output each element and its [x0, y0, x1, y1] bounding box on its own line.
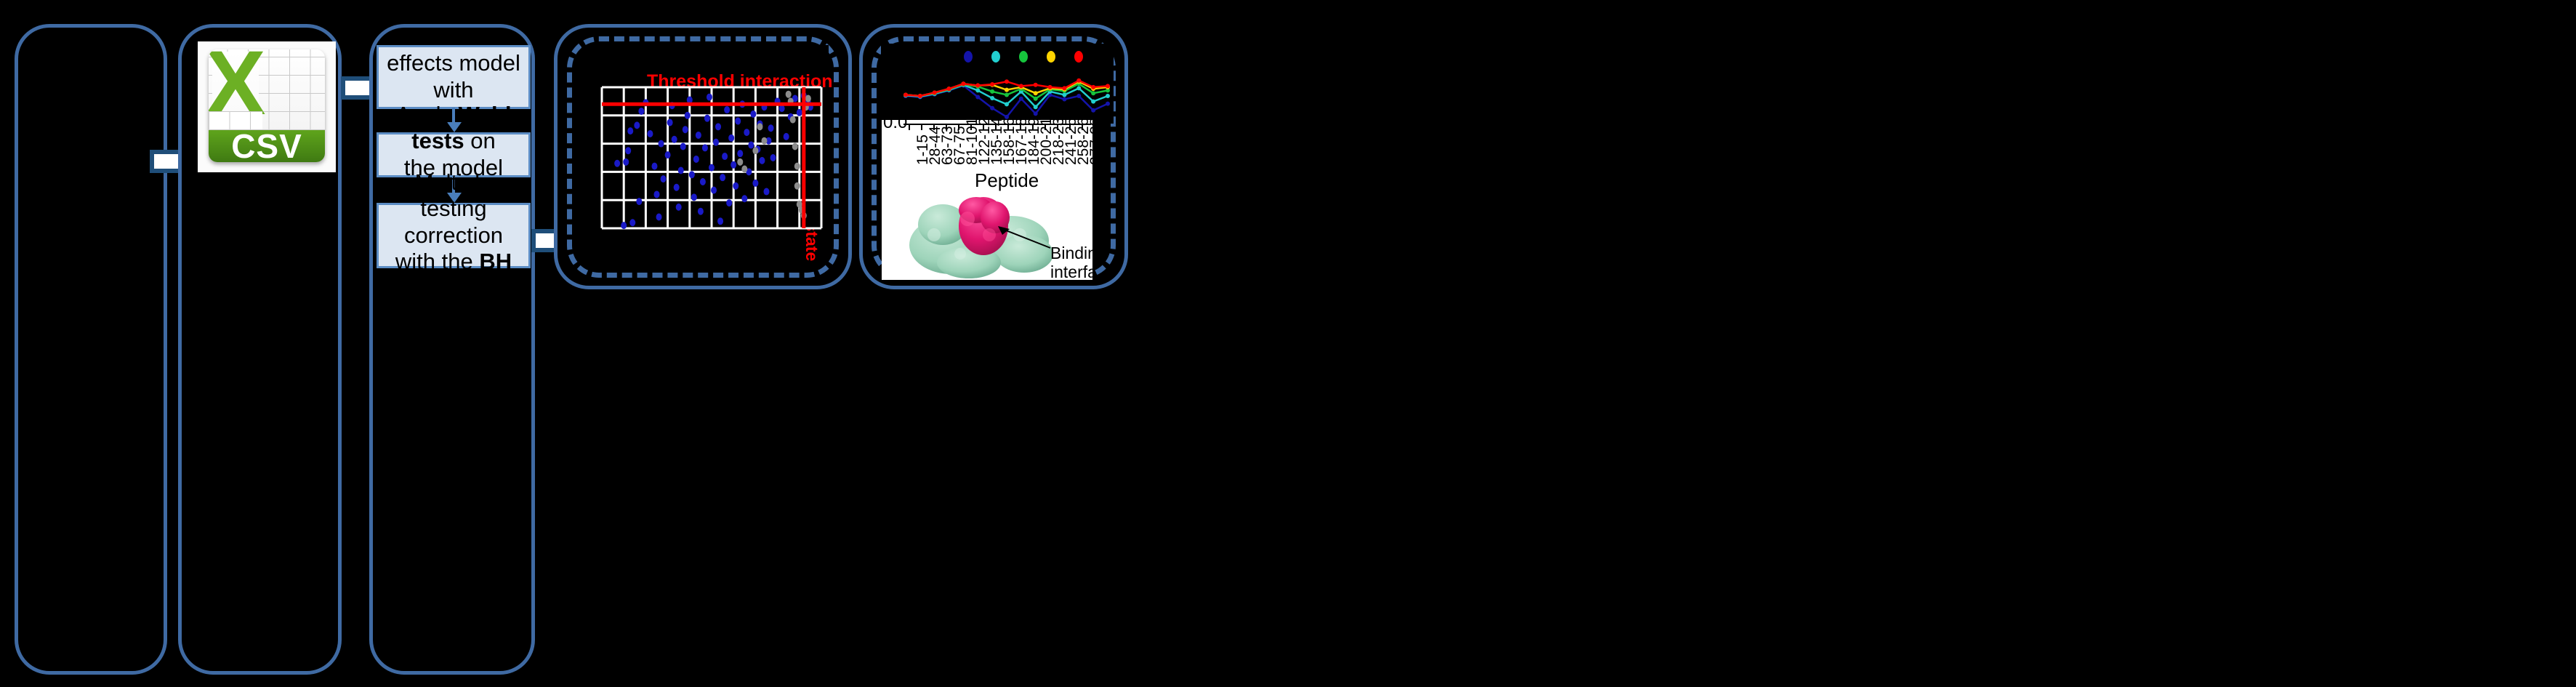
scatter-plot-canvas: [581, 45, 829, 263]
threshold-scatter-figure: Threshold interaction Threshold state: [581, 45, 829, 263]
peptide-line-chart-canvas: [881, 44, 1114, 124]
binding-interface-annotation: Binding interface: [1050, 244, 1092, 280]
x-axis-label: Peptide: [975, 169, 1039, 192]
csv-icon-tile: X CSV: [209, 49, 325, 162]
csv-format-label: CSV: [209, 130, 325, 161]
step-multiple-testing-box[interactable]: Multiple testing correction with the BH …: [377, 203, 531, 268]
peptide-lineplot: [881, 44, 1114, 124]
step-multiple-testing-text: Multiple testing correction with the BH …: [383, 169, 524, 302]
csv-file-icon: X CSV: [198, 41, 336, 172]
peptide-tick-label: 277-284: [1087, 120, 1092, 165]
peptide-structure-figure: 0.0 1-1528-4463-7367-7581-101122-129135-…: [882, 120, 1092, 280]
excel-x-glyph: X: [212, 52, 259, 115]
step-fit-model-box[interactable]: Fit a linear mixed- effects model with R…: [377, 45, 531, 109]
data-input-panel[interactable]: [15, 24, 167, 675]
